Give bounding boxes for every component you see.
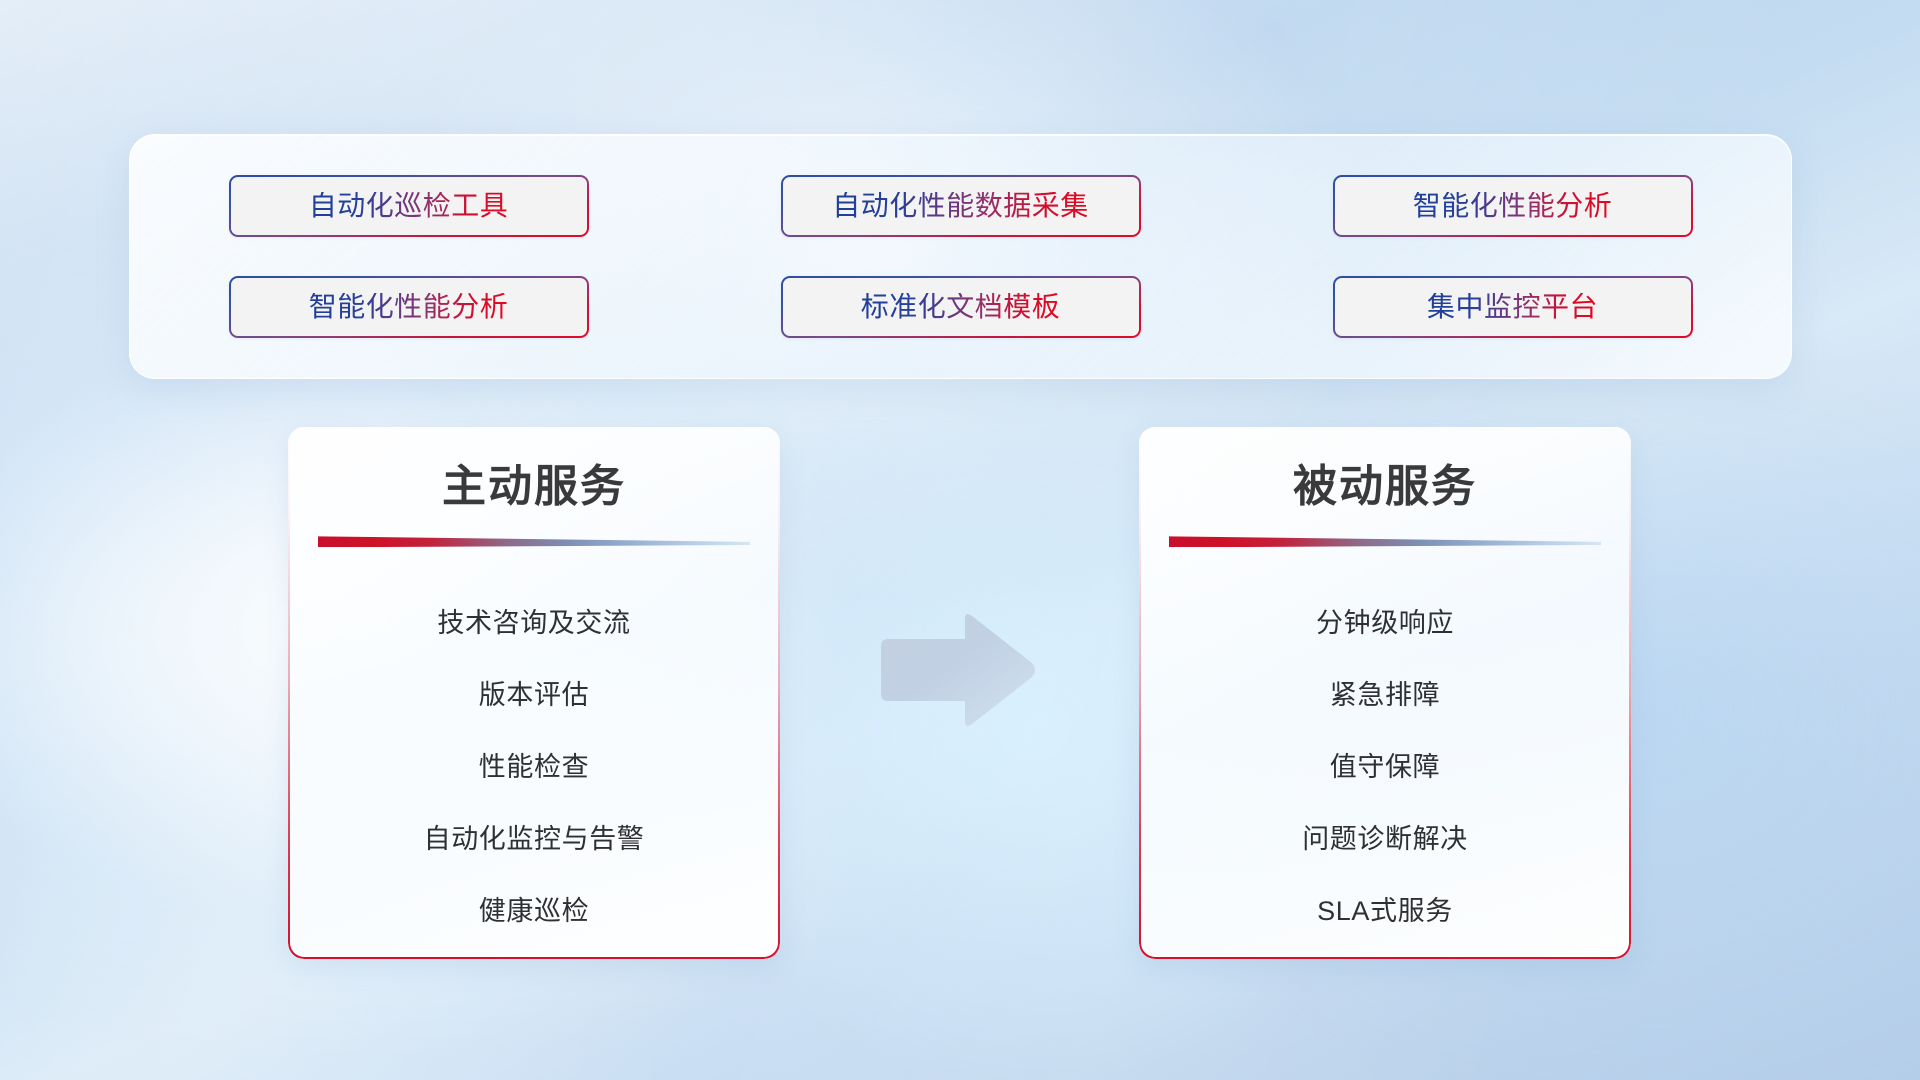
service-list-item: 值守保障 (1330, 731, 1440, 803)
title-underline-shape (1169, 535, 1601, 547)
service-item-list: 分钟级响应 紧急排障 值守保障 问题诊断解决 SLA式服务 (1139, 587, 1631, 947)
capability-tag-label: 集中监控平台 (1427, 293, 1598, 321)
capability-tag-label: 智能化性能分析 (309, 293, 509, 321)
service-card-active[interactable]: 主动服务 技术咨询及交流 版本评估 性能检查 自动化监控与告警 健康巡检 (288, 427, 780, 959)
capability-tag[interactable]: 智能化性能分析 (229, 276, 589, 338)
capability-tag-label: 智能化性能分析 (1413, 192, 1613, 220)
capability-tag-label: 自动化巡检工具 (309, 192, 509, 220)
service-item-list: 技术咨询及交流 版本评估 性能检查 自动化监控与告警 健康巡检 (288, 587, 780, 947)
title-underline-rule (318, 535, 750, 547)
arrow-right-icon (875, 610, 1040, 730)
service-list-item: 技术咨询及交流 (437, 587, 630, 659)
capability-tag-label: 自动化性能数据采集 (832, 192, 1089, 220)
service-list-item: 分钟级响应 (1316, 587, 1454, 659)
service-card-body: 被动服务 分钟级响应 紧急排障 值守保障 问题诊断解决 SLA式服务 (1139, 427, 1631, 959)
service-card-body: 主动服务 技术咨询及交流 版本评估 性能检查 自动化监控与告警 健康巡检 (288, 427, 780, 959)
capability-tag-grid: 自动化巡检工具 自动化性能数据采集 智能化性能分析 智能化性能分析 标准化文档模… (229, 175, 1693, 338)
capability-tag[interactable]: 智能化性能分析 (1333, 175, 1693, 237)
capability-tag[interactable]: 自动化巡检工具 (229, 175, 589, 237)
service-list-item: 自动化监控与告警 (424, 803, 645, 875)
service-card-passive[interactable]: 被动服务 分钟级响应 紧急排障 值守保障 问题诊断解决 SLA式服务 (1139, 427, 1631, 959)
service-card-title: 被动服务 (1293, 463, 1477, 511)
service-list-item: 性能检查 (479, 731, 589, 803)
title-underline-rule (1169, 535, 1601, 547)
capability-tag[interactable]: 集中监控平台 (1333, 276, 1693, 338)
service-list-item: SLA式服务 (1317, 875, 1453, 947)
service-list-item: 紧急排障 (1330, 659, 1440, 731)
capability-tag[interactable]: 自动化性能数据采集 (781, 175, 1141, 237)
title-underline-shape (318, 535, 750, 547)
capability-tag[interactable]: 标准化文档模板 (781, 276, 1141, 338)
service-list-item: 问题诊断解决 (1302, 803, 1468, 875)
infographic-stage: 自动化巡检工具 自动化性能数据采集 智能化性能分析 智能化性能分析 标准化文档模… (0, 0, 1920, 1080)
service-list-item: 健康巡检 (479, 875, 589, 947)
capability-tag-label: 标准化文档模板 (861, 293, 1061, 321)
capability-tags-panel: 自动化巡检工具 自动化性能数据采集 智能化性能分析 智能化性能分析 标准化文档模… (129, 134, 1792, 379)
service-list-item: 版本评估 (479, 659, 589, 731)
service-card-title: 主动服务 (442, 463, 626, 511)
